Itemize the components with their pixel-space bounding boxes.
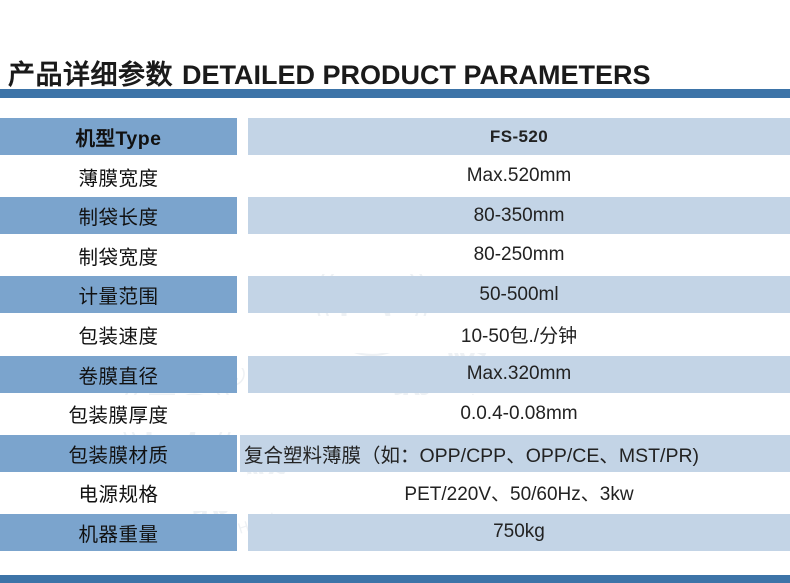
table-row: 电源规格PET/220V、50/60Hz、3kw: [0, 474, 790, 514]
spec-value-cell: 复合塑料薄膜（如：OPP/CPP、OPP/CE、MST/PR): [240, 435, 790, 472]
table-row: 制袋宽度80-250mm: [0, 237, 790, 277]
spec-label-cell: 包装膜材质: [0, 435, 237, 472]
spec-value-cell: 750kg: [248, 514, 790, 551]
spec-value-cell: Max.520mm: [248, 158, 790, 195]
spec-value-cell: 10-50包./分钟: [248, 316, 790, 353]
product-parameters-page: 产品详细参数DETAILED PRODUCT PARAMETERS R 弗 顺 …: [0, 0, 790, 583]
spec-label-cell: 制袋宽度: [0, 237, 237, 274]
spec-label-cell: 计量范围: [0, 276, 237, 313]
spec-value-cell: FS-520: [248, 118, 790, 155]
spec-label-cell: 包装速度: [0, 316, 237, 353]
page-title-chinese: 产品详细参数: [8, 60, 173, 90]
table-row: 机型TypeFS-520: [0, 118, 790, 158]
spec-value-cell: 80-350mm: [248, 197, 790, 234]
spec-value-cell: Max.320mm: [248, 356, 790, 393]
page-header: 产品详细参数DETAILED PRODUCT PARAMETERS: [0, 0, 790, 86]
table-row: 卷膜直径Max.320mm: [0, 356, 790, 396]
spec-label-cell: 卷膜直径: [0, 356, 237, 393]
page-title: 产品详细参数DETAILED PRODUCT PARAMETERS: [8, 53, 651, 92]
table-row: 制袋长度80-350mm: [0, 197, 790, 237]
spec-table: 机型TypeFS-520薄膜宽度Max.520mm制袋长度80-350mm制袋宽…: [0, 118, 790, 554]
spec-label-cell: 包装膜厚度: [0, 395, 237, 432]
table-row: 包装速度10-50包./分钟: [0, 316, 790, 356]
footer-divider-bottom: [0, 575, 790, 583]
header-divider-top: [0, 89, 790, 98]
spec-label-cell: 机型Type: [0, 118, 237, 155]
spec-label-cell: 机器重量: [0, 514, 237, 551]
table-row: 计量范围50-500ml: [0, 276, 790, 316]
table-row: 薄膜宽度Max.520mm: [0, 158, 790, 198]
spec-label-cell: 电源规格: [0, 474, 237, 511]
table-row: 包装膜厚度0.0.4-0.08mm: [0, 395, 790, 435]
spec-label-cell: 薄膜宽度: [0, 158, 237, 195]
table-row: 包装膜材质复合塑料薄膜（如：OPP/CPP、OPP/CE、MST/PR): [0, 435, 790, 475]
page-title-english: DETAILED PRODUCT PARAMETERS: [182, 60, 651, 90]
spec-value-cell: 80-250mm: [248, 237, 790, 274]
spec-value-cell: 50-500ml: [248, 276, 790, 313]
spec-value-cell: 0.0.4-0.08mm: [248, 395, 790, 432]
table-row: 机器重量750kg: [0, 514, 790, 554]
spec-value-cell: PET/220V、50/60Hz、3kw: [248, 474, 790, 511]
spec-label-cell: 制袋长度: [0, 197, 237, 234]
